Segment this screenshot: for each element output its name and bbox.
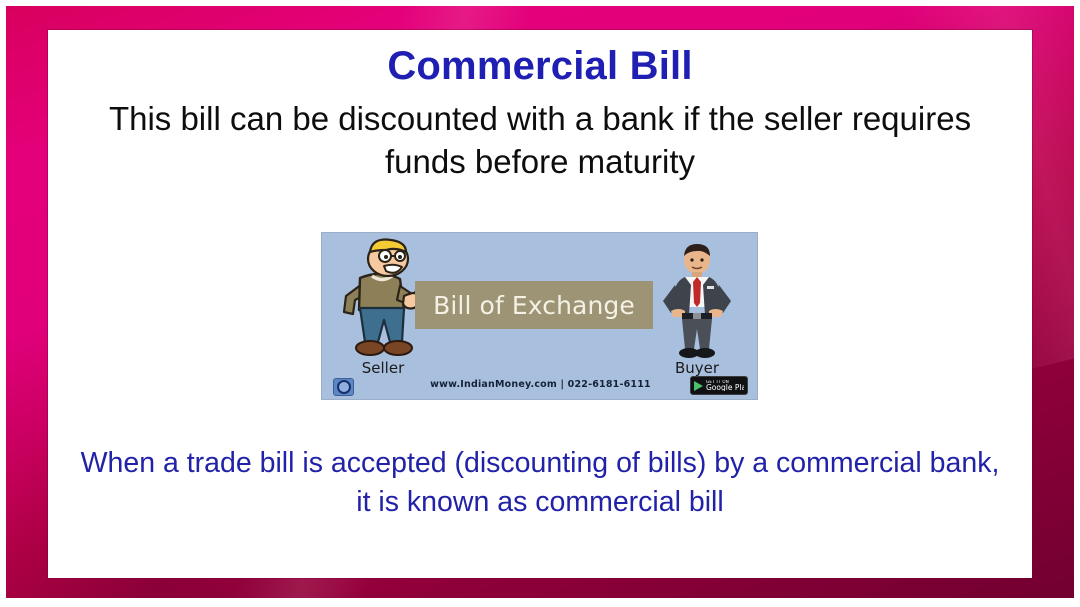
bill-of-exchange-plaque-label: Bill of Exchange <box>433 291 635 320</box>
slide-content-canvas: Commercial Bill This bill can be discoun… <box>48 30 1032 578</box>
page-title: Commercial Bill <box>48 44 1032 88</box>
buyer-character-icon <box>655 241 739 363</box>
slide-root: Commercial Bill This bill can be discoun… <box>0 0 1080 607</box>
slide-subtitle-text: This bill can be discounted with a bank … <box>90 98 990 184</box>
google-play-badge-bottom-label: Google Play <box>706 384 744 392</box>
google-play-badge[interactable]: GET IT ON Google Play <box>690 376 748 395</box>
seller-caption-label: Seller <box>330 359 436 377</box>
google-play-triangle-icon <box>694 381 703 391</box>
bill-of-exchange-illustration: Seller <box>321 232 758 400</box>
buyer-caption-label: Buyer <box>651 359 743 377</box>
bill-of-exchange-plaque: Bill of Exchange <box>415 281 653 329</box>
slide-footnote-text: When a trade bill is accepted (discounti… <box>72 444 1008 522</box>
